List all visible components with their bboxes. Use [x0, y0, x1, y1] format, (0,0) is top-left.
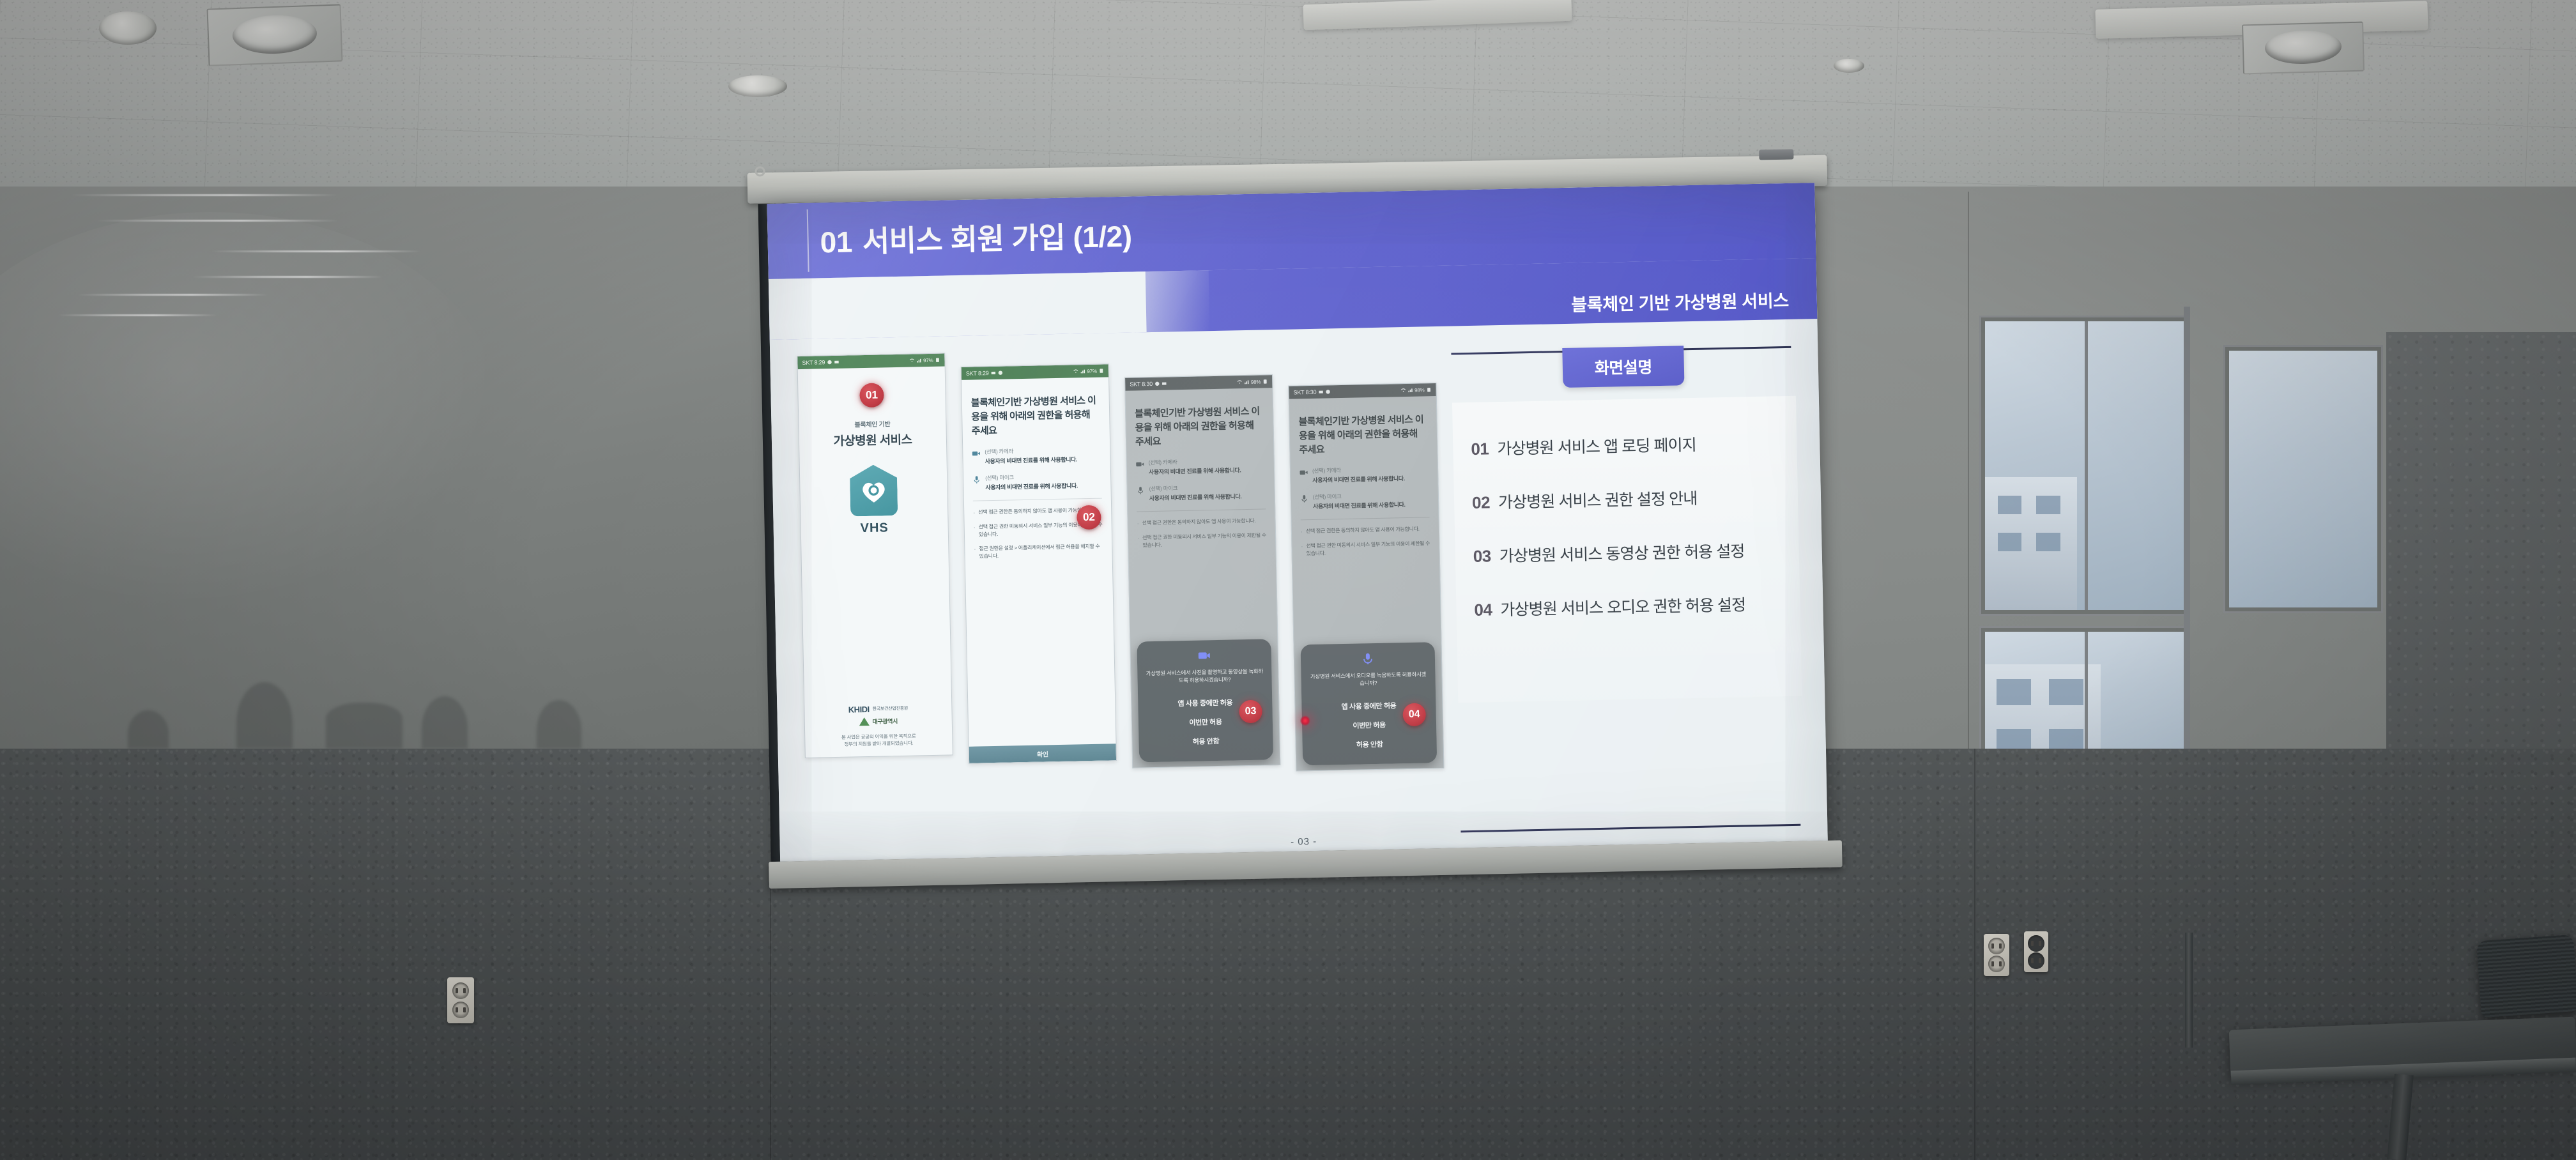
carrier-time: SKT 8:30 [1293, 389, 1316, 396]
permission-list: (선택) 카메라 사용자의 비대면 진료를 위해 사용합니다. (선택) 마이크… [1136, 457, 1266, 503]
permission-desc: 사용자의 비대면 진료를 위해 사용합니다. [1313, 500, 1406, 510]
permission-row-camera: (선택) 카메라 사용자의 비대면 진료를 위해 사용합니다. [972, 446, 1101, 466]
outlet-socket [2028, 935, 2044, 952]
note-text: 선택 접근 권한은 동의하지 않아도 앱 사용이 가능합니다. [978, 507, 1092, 517]
microphone-icon [1300, 494, 1308, 503]
permission-label: (선택) 마이크 [985, 473, 1078, 482]
chat-icon [998, 370, 1003, 376]
phone-mockup-01: SKT 8:29 97% 0 [797, 353, 953, 758]
building-window [1997, 679, 2031, 706]
permission-label: (선택) 마이크 [1313, 491, 1406, 501]
permission-heading: 블록체인기반 가상병원 서비스 이용을 위해 아래의 권한을 허용해 주세요 [1298, 413, 1428, 457]
bullet: · [974, 523, 976, 538]
item-text: 가상병원 서비스 동영상 권한 허용 설정 [1499, 538, 1744, 567]
glass-reflection-streak [77, 294, 268, 296]
power-outlet-left [447, 977, 474, 1023]
status-right: 97% [1073, 368, 1104, 374]
status-right: 98% [1400, 387, 1432, 393]
signal-icon [1080, 369, 1085, 374]
permission-list: (선택) 카메라 사용자의 비대면 진료를 위해 사용합니다. (선택) 마이크… [1299, 465, 1429, 511]
exterior-building [1985, 477, 2077, 610]
status-right: 98% [1237, 379, 1268, 385]
confirm-button[interactable]: 확인 [969, 744, 1116, 763]
description-panel: 화면설명 01 가상병원 서비스 앱 로딩 페이지 02 가상병원 서비스 권한… [1451, 336, 1805, 848]
glass-reflection-streak [192, 276, 383, 278]
dialog-question: 가상병원 서비스에서 오디오를 녹음하도록 허용하시겠습니까? [1308, 670, 1427, 689]
permission-label: (선택) 카메라 [1149, 457, 1241, 466]
permission-notes: ·선택 접근 권한은 동의하지 않아도 앱 사용이 가능합니다. ·선택 접근 … [1301, 526, 1430, 558]
vent-disk-right [2265, 30, 2342, 65]
funding-disclaimer: 본 사업은 공공의 이익을 위한 목적으로 정부의 지원을 받아 개발되었습니다… [805, 731, 952, 749]
status-right: 97% [909, 357, 940, 363]
microphone-glyph [1361, 652, 1374, 665]
daegu-triangle-icon [859, 717, 869, 725]
glass-wall-panel [0, 187, 779, 761]
android-permission-dialog-camera: 03 가상병원 서비스에서 사진을 촬영하고 동영상을 녹화하도록 허용하시겠습… [1137, 639, 1273, 763]
item-number: 02 [1472, 492, 1491, 513]
battery-percent: 97% [923, 357, 933, 363]
permission-camera-text: (선택) 카메라 사용자의 비대면 진료를 위해 사용합니다. [1149, 457, 1241, 476]
dialog-option-deny[interactable]: 허용 안함 [1146, 731, 1266, 752]
status-left: SKT 8:29 [966, 370, 1003, 377]
note-text: 선택 접근 권한 미동의시 서비스 일부 기능의 이용이 제한될 수 있습니다. [1142, 531, 1266, 549]
microphone-icon [972, 476, 981, 484]
battery-percent: 98% [1414, 387, 1425, 393]
vhs-wordmark: VHS [810, 520, 939, 537]
building-window [1998, 496, 2021, 514]
ceiling-vent-right [2242, 22, 2365, 75]
permission-mic-text: (선택) 마이크 사용자의 비대면 진료를 위해 사용합니다. [1149, 483, 1241, 502]
panel-badge: 화면설명 [1562, 346, 1684, 388]
ceiling-speaker-left [99, 11, 157, 45]
permission-list: (선택) 카메라 사용자의 비대면 진료를 위해 사용합니다. (선택) 마이크… [972, 446, 1101, 492]
battery-percent: 97% [1087, 368, 1097, 374]
phone-02-content: 02 블록체인기반 가상병원 서비스 이용을 위해 아래의 권한을 허용해 주세… [962, 377, 1116, 763]
outlet-socket [452, 982, 469, 999]
brand-title: 가상병원 서비스 [808, 430, 938, 450]
desk-leg [2185, 933, 2193, 1048]
chat-icon [1325, 389, 1330, 394]
ceiling-vent-left [206, 4, 342, 66]
note-text: 선택 접근 권한 미동의시 서비스 일부 기능의 이용이 제한될 수 있습니다. [1306, 540, 1430, 558]
note-item: ·선택 접근 권한 미동의시 서비스 일부 기능의 이용이 제한될 수 있습니다… [1301, 540, 1430, 558]
daegu-label: 대구광역시 [872, 717, 898, 726]
phone-mockup-04: SKT 8:30 98% 블 [1288, 383, 1444, 772]
permission-row-microphone: (선택) 마이크 사용자의 비대면 진료를 위해 사용합니다. [1136, 483, 1266, 503]
permission-desc: 사용자의 비대면 진료를 위해 사용합니다. [985, 482, 1078, 492]
mail-icon [834, 360, 839, 365]
status-left: SKT 8:29 [802, 359, 839, 366]
permission-desc: 사용자의 비대면 진료를 위해 사용합니다. [1149, 466, 1241, 476]
permission-camera-text: (선택) 카메라 사용자의 비대면 진료를 위해 사용합니다. [985, 446, 1077, 466]
mail-icon [1318, 390, 1323, 395]
projector-screen: 01서비스 회원 가입 (1/2) 블록체인 기반 가상병원 서비스 SKT 8… [767, 166, 1905, 897]
glass-reflection-blob [0, 212, 498, 608]
permission-heading: 블록체인기반 가상병원 서비스 이용을 위해 아래의 권한을 허용해 주세요 [1135, 404, 1264, 448]
status-left: SKT 8:30 [1130, 380, 1167, 387]
header-accent-line [807, 210, 809, 272]
wifi-icon [1400, 388, 1406, 393]
bullet: · [974, 545, 976, 560]
wifi-icon [909, 358, 914, 363]
note-item: ·선택 접근 권한은 동의하지 않아도 앱 사용이 가능합니다. [1301, 526, 1430, 537]
item-text: 가상병원 서비스 오디오 권한 허용 설정 [1500, 592, 1745, 620]
bullet: · [1301, 528, 1303, 537]
building-window [2036, 496, 2060, 514]
page-title: 01서비스 회원 가입 (1/2) [820, 213, 1132, 262]
camera-icon [1136, 460, 1144, 468]
permission-label: (선택) 마이크 [1149, 483, 1241, 492]
outlet-socket [452, 1002, 469, 1018]
khidi-logo: KHIDI 한국보건산업진흥원 [804, 703, 951, 715]
dialog-question: 가상병원 서비스에서 사진을 촬영하고 동영상을 녹화하도록 허용하시겠습니까? [1145, 667, 1264, 685]
building-window [1998, 533, 2021, 551]
mail-icon [991, 370, 996, 376]
note-text: 선택 접근 권한은 동의하지 않아도 앱 사용이 가능합니다. [1306, 526, 1420, 536]
permission-row-microphone: (선택) 마이크 사용자의 비대면 진료를 위해 사용합니다. [972, 472, 1102, 492]
bullet: · [1301, 542, 1303, 558]
glass-reflection-streak [211, 250, 422, 252]
permission-label: (선택) 카메라 [1312, 465, 1405, 475]
step-badge-01: 01 [859, 383, 884, 408]
slide-title-text: 서비스 회원 가입 (1/2) [862, 220, 1132, 258]
outlet-socket [1988, 956, 2005, 972]
heart-link-icon [859, 478, 889, 505]
dialog-option-deny[interactable]: 허용 안함 [1310, 733, 1429, 755]
presentation-slide: 01서비스 회원 가입 (1/2) 블록체인 기반 가상병원 서비스 SKT 8… [767, 183, 1827, 862]
glass-reflection-streak [70, 194, 339, 196]
outlet-socket [1988, 938, 2005, 954]
permission-mic-text: (선택) 마이크 사용자의 비대면 진료를 위해 사용합니다. [1313, 491, 1406, 510]
permission-row-camera: (선택) 카메라 사용자의 비대면 진료를 위해 사용합니다. [1136, 457, 1266, 477]
bullet: · [1137, 534, 1139, 549]
list-item: 02 가상병원 서비스 권한 설정 안내 [1472, 484, 1792, 514]
carrier-time: SKT 8:30 [1130, 381, 1153, 388]
phone-01-content: 01 블록체인 기반 가상병원 서비스 [798, 366, 953, 757]
status-left: SKT 8:30 [1293, 388, 1330, 395]
camera-icon [972, 450, 980, 458]
office-chair [2476, 935, 2576, 1018]
bullet: · [973, 509, 975, 517]
permission-notes: ·선택 접근 권한은 동의하지 않아도 앱 사용이 가능합니다. ·선택 접근 … [1137, 517, 1267, 550]
window-upper-right [1979, 316, 2190, 616]
note-item: ·선택 접근 권한 미동의시 서비스 일부 기능의 이용이 제한될 수 있습니다… [1137, 531, 1266, 549]
chat-icon [827, 360, 832, 365]
permission-row-microphone: (선택) 마이크 사용자의 비대면 진료를 위해 사용합니다. [1300, 491, 1430, 511]
mail-icon [1161, 381, 1167, 386]
khidi-mark: KHIDI [848, 704, 870, 714]
vhs-logo-icon [850, 464, 898, 516]
window-mullion [2085, 321, 2088, 610]
chat-icon [1154, 381, 1160, 386]
signal-icon [916, 358, 921, 363]
microphone-icon [1361, 652, 1374, 665]
note-item: ·접근 권한은 설정 > 어플리케이션에서 접근 허용을 해지할 수 있습니다. [974, 542, 1103, 560]
permission-label: (선택) 카메라 [985, 446, 1077, 456]
phone-mockup-02: SKT 8:29 97% 0 [961, 363, 1117, 764]
permission-mic-text: (선택) 마이크 사용자의 비대면 진료를 위해 사용합니다. [985, 473, 1078, 492]
battery-icon [1099, 368, 1104, 373]
audience-silhouette [326, 703, 402, 749]
ir-sensor [1759, 149, 1793, 160]
phone-03-content: 블록체인기반 가상병원 서비스 이용을 위해 아래의 권한을 허용해 주세요 (… [1125, 388, 1280, 767]
divider [973, 498, 1102, 501]
list-item: 03 가상병원 서비스 동영상 권한 허용 설정 [1473, 538, 1793, 567]
screen-surface: 01서비스 회원 가입 (1/2) 블록체인 기반 가상병원 서비스 SKT 8… [767, 183, 1827, 862]
note-item: ·선택 접근 권한은 동의하지 않아도 앱 사용이 가능합니다. [1137, 517, 1266, 528]
glass-reflection-streak [57, 314, 217, 316]
camera-icon [1299, 468, 1308, 477]
phone-01-footer: KHIDI 한국보건산업진흥원 대구광역시 본 사업은 공공의 이익을 위한 목… [804, 703, 952, 749]
building-window [2049, 679, 2083, 706]
khidi-korean-name: 한국보건산업진흥원 [873, 705, 908, 712]
app-branding: 블록체인 기반 가상병원 서비스 [808, 418, 937, 450]
camera-glyph [1198, 649, 1211, 662]
window-far-right [2223, 345, 2383, 613]
camera-icon [1198, 649, 1211, 662]
phone-mockup-03: SKT 8:30 98% 블 [1124, 374, 1280, 768]
note-text: 선택 접근 권한은 동의하지 않아도 앱 사용이 가능합니다. [1142, 517, 1256, 528]
conference-room-photo: 01서비스 회원 가입 (1/2) 블록체인 기반 가상병원 서비스 SKT 8… [0, 0, 2576, 1160]
permission-desc: 사용자의 비대면 진료를 위해 사용합니다. [1149, 492, 1242, 502]
permission-heading: 블록체인기반 가상병원 서비스 이용을 위해 아래의 권한을 허용해 주세요 [971, 394, 1101, 438]
divider [1301, 517, 1430, 521]
glass-reflection-streak [96, 220, 339, 222]
item-number: 04 [1474, 600, 1492, 620]
roller-bracket [755, 166, 765, 176]
battery-icon [1262, 379, 1268, 384]
battery-icon [1426, 387, 1431, 392]
microphone-icon [1136, 486, 1144, 494]
power-outlet-right-2 [2024, 931, 2048, 972]
wall-seam-lower [1974, 749, 1975, 1160]
list-item: 01 가상병원 서비스 앱 로딩 페이지 [1471, 431, 1791, 460]
ceiling-speaker-mid [728, 75, 787, 97]
battery-icon [935, 358, 940, 363]
note-text: 접근 권한은 설정 > 어플리케이션에서 접근 허용을 해지할 수 있습니다. [979, 542, 1103, 560]
signal-icon [1244, 379, 1249, 385]
android-permission-dialog-microphone: 04 가상병원 서비스에서 오디오를 녹음하도록 허용하시겠습니까? 앱 사용 … [1300, 642, 1437, 766]
ceiling-sprinkler [1834, 59, 1864, 73]
window-glass [2229, 351, 2377, 607]
slide-body: SKT 8:29 97% 0 [770, 319, 1828, 862]
item-number: 03 [1473, 546, 1491, 567]
phone-04-content: 블록체인기반 가상병원 서비스 이용을 위해 아래의 권한을 허용해 주세요 (… [1289, 396, 1444, 770]
vent-disk [232, 14, 318, 56]
signal-icon [1407, 388, 1413, 393]
list-item: 04 가상병원 서비스 오디오 권한 허용 설정 [1474, 591, 1794, 621]
daegu-logo: 대구광역시 [805, 715, 952, 727]
slide-number: 01 [820, 225, 852, 259]
permission-desc: 사용자의 비대면 진료를 위해 사용합니다. [1312, 474, 1405, 484]
wifi-icon [1237, 379, 1242, 385]
project-subtitle: 블록체인 기반 가상병원 서비스 [1571, 286, 1818, 324]
building-window [2036, 533, 2060, 551]
wall-seam [1968, 192, 1969, 754]
description-list: 01 가상병원 서비스 앱 로딩 페이지 02 가상병원 서비스 권한 설정 안… [1452, 396, 1802, 703]
battery-percent: 98% [1251, 379, 1261, 385]
item-text: 가상병원 서비스 권한 설정 안내 [1498, 486, 1698, 513]
wifi-icon [1073, 369, 1078, 374]
right-partition-wall [2386, 332, 2576, 779]
carrier-time: SKT 8:29 [966, 370, 989, 377]
permission-row-camera: (선택) 카메라 사용자의 비대면 진료를 위해 사용합니다. [1299, 465, 1429, 485]
item-number: 01 [1471, 439, 1489, 459]
permission-camera-text: (선택) 카메라 사용자의 비대면 진료를 위해 사용합니다. [1312, 465, 1405, 484]
outlet-socket [2028, 952, 2044, 969]
divider [1137, 509, 1266, 512]
permission-desc: 사용자의 비대면 진료를 위해 사용합니다. [985, 455, 1078, 466]
power-outlet-right [1984, 934, 2009, 976]
bullet: · [1137, 520, 1139, 528]
item-text: 가상병원 서비스 앱 로딩 페이지 [1497, 432, 1696, 459]
carrier-time: SKT 8:29 [802, 359, 825, 366]
brand-subtitle: 블록체인 기반 [808, 418, 937, 430]
